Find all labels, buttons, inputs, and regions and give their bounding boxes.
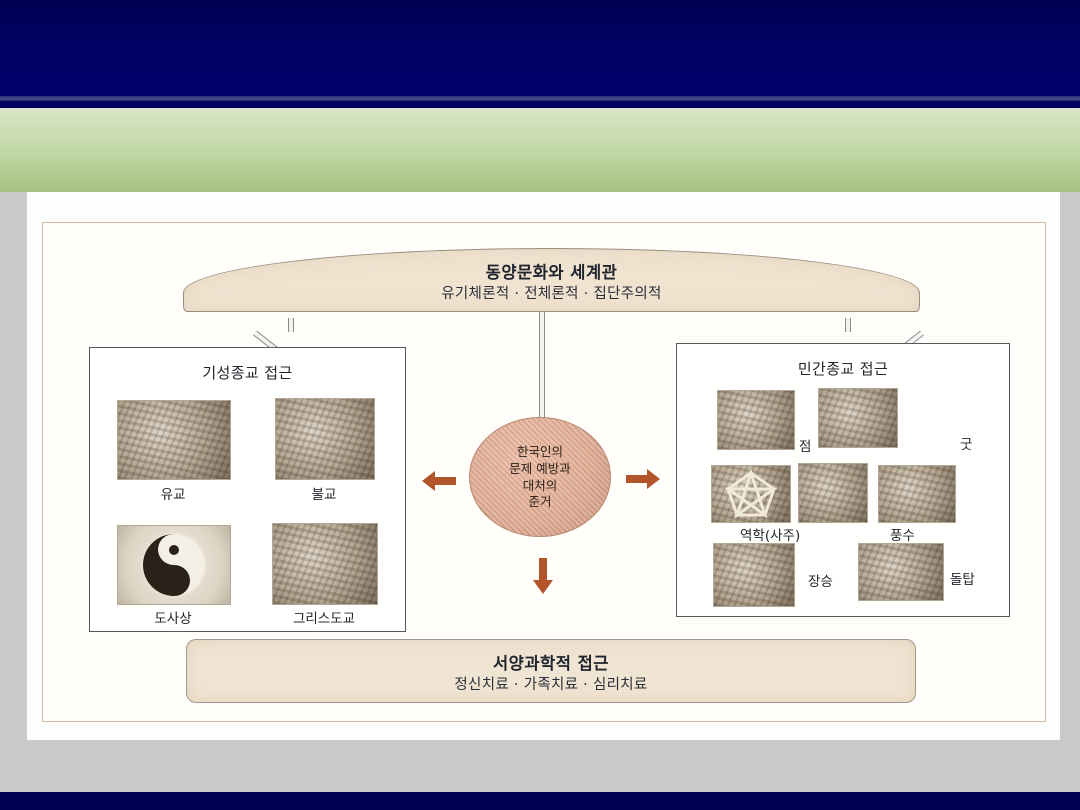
right-item-label-1: 점 bbox=[799, 435, 811, 455]
left-item-label-1: 유교 bbox=[117, 483, 229, 503]
presentation-slide: 동양문화와 세계관 유기체론적 · 전체론적 · 집단주의적 기성종교 접근 유… bbox=[0, 0, 1080, 810]
bottom-banner-subtitle: 정신치료 · 가족치료 · 심리치료 bbox=[187, 673, 915, 694]
oval-line-2: 문제 예방과 bbox=[509, 461, 570, 477]
right-item-label-6: 돌탑 bbox=[950, 568, 975, 588]
photo-pentagram-chart bbox=[711, 465, 791, 523]
right-item-label-2: 굿 bbox=[960, 433, 972, 453]
photo-feng-shui bbox=[878, 465, 956, 523]
left-item-label-4: 그리스도교 bbox=[266, 607, 382, 627]
right-item-label-4: 풍수 bbox=[890, 524, 915, 544]
header-navy-band bbox=[0, 0, 1080, 96]
bottom-banner-western-science: 서양과학적 접근 정신치료 · 가족치료 · 심리치료 bbox=[186, 639, 916, 703]
connector-right-stem bbox=[845, 318, 851, 332]
photo-fortune-telling bbox=[717, 390, 795, 450]
oval-line-1: 한국인의 bbox=[517, 444, 563, 460]
oval-line-4: 준거 bbox=[528, 494, 551, 510]
oval-line-3: 대처의 bbox=[523, 478, 558, 494]
photo-saju-sign bbox=[798, 463, 868, 523]
bottom-banner-title: 서양과학적 접근 bbox=[187, 650, 915, 674]
arrow-right-icon bbox=[624, 466, 662, 492]
photo-confucian-rite bbox=[117, 400, 231, 480]
header-green-band bbox=[0, 108, 1080, 192]
header-navy-band-lower bbox=[0, 101, 1080, 108]
photo-yin-yang bbox=[117, 525, 231, 605]
left-box-title: 기성종교 접근 bbox=[90, 362, 405, 383]
oval-text: 한국인의 문제 예방과 대처의 준거 bbox=[470, 418, 610, 536]
pentagram-icon bbox=[725, 470, 777, 518]
right-item-label-5: 장승 bbox=[808, 570, 833, 590]
right-box-title: 민간종교 접근 bbox=[677, 358, 1009, 379]
right-item-label-3: 역학(사주) bbox=[740, 524, 800, 544]
arrow-left-icon bbox=[420, 468, 458, 494]
left-item-label-2: 불교 bbox=[275, 483, 373, 503]
footer-navy-band bbox=[0, 792, 1080, 810]
left-item-label-3: 도사상 bbox=[117, 607, 229, 627]
top-banner-title: 동양문화와 세계관 bbox=[184, 259, 919, 283]
photo-jangseung bbox=[713, 543, 795, 607]
arrow-down-icon bbox=[530, 556, 556, 596]
photo-church bbox=[272, 523, 378, 605]
center-oval-korean-criteria: 한국인의 문제 예방과 대처의 준거 bbox=[469, 417, 611, 537]
top-banner-subtitle: 유기체론적 · 전체론적 · 집단주의적 bbox=[184, 282, 919, 303]
connector-center-vertical bbox=[539, 308, 545, 428]
photo-gut-ritual bbox=[818, 388, 898, 448]
connector-left-stem bbox=[288, 318, 294, 332]
photo-buddha bbox=[275, 398, 375, 480]
yin-yang-icon bbox=[143, 534, 205, 596]
photo-stone-pagoda bbox=[858, 543, 944, 601]
